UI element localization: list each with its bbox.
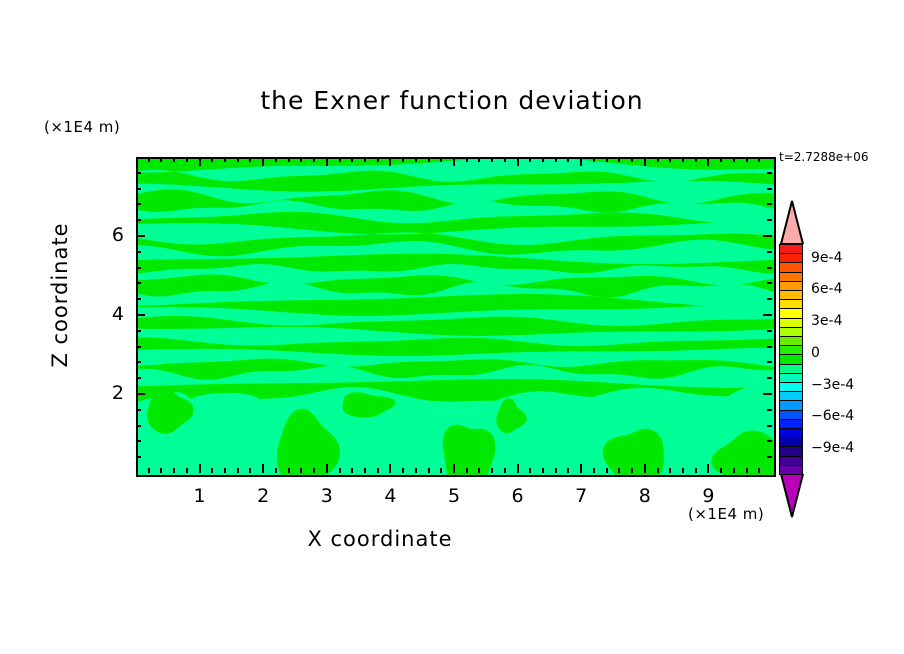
x-tick-minor (618, 157, 620, 162)
x-tick-minor (758, 468, 760, 473)
y-tick-minor (136, 409, 141, 411)
x-tick-label: 1 (180, 485, 220, 507)
x-tick-minor (224, 468, 226, 473)
x-tick-minor (746, 468, 748, 473)
x-tick-label: 4 (370, 485, 410, 507)
x-tick-label: 9 (688, 485, 728, 507)
x-tick-minor (567, 468, 569, 473)
x-tick-minor (682, 157, 684, 162)
y-tick-minor (767, 203, 772, 205)
x-tick-minor (351, 157, 353, 162)
x-tick-major (580, 464, 582, 473)
x-tick-major (389, 157, 391, 166)
x-tick-minor (491, 157, 493, 162)
x-tick-major (453, 464, 455, 473)
x-tick-major (199, 157, 201, 166)
x-tick-label: 3 (307, 485, 347, 507)
y-tick-minor (136, 251, 141, 253)
contour-cell-inner (443, 425, 496, 475)
x-tick-major (580, 157, 582, 166)
x-tick-minor (428, 468, 430, 473)
x-tick-minor (300, 157, 302, 162)
colorbar-tick-label: 0 (811, 345, 820, 361)
y-tick-minor (767, 361, 772, 363)
y-tick-minor (136, 346, 141, 348)
x-tick-minor (440, 468, 442, 473)
y-tick-minor (767, 251, 772, 253)
y-tick-minor (767, 172, 772, 174)
x-tick-minor (618, 468, 620, 473)
x-tick-minor (377, 468, 379, 473)
x-tick-minor (237, 468, 239, 473)
x-tick-major (707, 464, 709, 473)
y-axis-title: Z coordinate (48, 215, 72, 375)
x-tick-minor (249, 157, 251, 162)
y-tick-minor (767, 188, 772, 190)
x-tick-label: 7 (561, 485, 601, 507)
x-tick-minor (478, 468, 480, 473)
colorbar-over-arrow (779, 200, 805, 244)
x-tick-minor (173, 468, 175, 473)
y-tick-minor (136, 330, 141, 332)
x-tick-major (389, 464, 391, 473)
x-tick-minor (313, 157, 315, 162)
x-tick-minor (542, 157, 544, 162)
x-tick-minor (695, 157, 697, 162)
y-tick-minor (136, 456, 141, 458)
x-tick-minor (720, 157, 722, 162)
x-tick-minor (211, 468, 213, 473)
y-tick-minor (767, 456, 772, 458)
y-tick-minor (136, 298, 141, 300)
x-tick-minor (720, 468, 722, 473)
x-tick-minor (758, 157, 760, 162)
x-tick-label: 5 (434, 485, 474, 507)
x-tick-minor (224, 157, 226, 162)
x-tick-minor (313, 468, 315, 473)
x-tick-minor (529, 157, 531, 162)
y-tick-minor (767, 425, 772, 427)
y-tick-major (763, 314, 772, 316)
x-axis-title: X coordinate (0, 527, 760, 551)
x-tick-minor (364, 468, 366, 473)
x-tick-major (326, 157, 328, 166)
x-tick-minor (288, 157, 290, 162)
x-tick-minor (377, 157, 379, 162)
y-tick-minor (136, 425, 141, 427)
x-tick-minor (402, 157, 404, 162)
colorbar: 9e-46e-43e-40−3e-4−6e-4−9e-4 (779, 200, 805, 512)
y-tick-major (136, 314, 145, 316)
x-tick-minor (275, 157, 277, 162)
x-tick-minor (657, 468, 659, 473)
x-tick-minor (364, 157, 366, 162)
y-tick-major (763, 393, 772, 395)
x-tick-minor (351, 468, 353, 473)
x-tick-minor (478, 157, 480, 162)
x-tick-major (199, 464, 201, 473)
y-tick-minor (136, 188, 141, 190)
contour-plot-area (136, 157, 776, 477)
x-tick-major (262, 464, 264, 473)
y-tick-major (136, 235, 145, 237)
timestamp-label: t=2.7288e+06 (779, 150, 868, 164)
x-tick-minor (491, 468, 493, 473)
contour-field (138, 159, 774, 475)
x-tick-minor (555, 468, 557, 473)
x-tick-minor (186, 468, 188, 473)
x-tick-minor (657, 157, 659, 162)
x-tick-minor (466, 468, 468, 473)
colorbar-tick-label: 6e-4 (811, 281, 842, 297)
y-tick-minor (136, 377, 141, 379)
y-tick-minor (767, 267, 772, 269)
x-tick-minor (695, 468, 697, 473)
x-tick-minor (746, 157, 748, 162)
y-tick-minor (136, 440, 141, 442)
x-tick-minor (466, 157, 468, 162)
y-tick-minor (136, 219, 141, 221)
x-tick-minor (631, 157, 633, 162)
x-tick-minor (339, 157, 341, 162)
y-tick-minor (767, 219, 772, 221)
y-tick-minor (136, 172, 141, 174)
x-tick-minor (606, 468, 608, 473)
x-tick-minor (300, 468, 302, 473)
x-tick-minor (173, 157, 175, 162)
x-tick-label: 2 (243, 485, 283, 507)
x-tick-minor (555, 157, 557, 162)
x-tick-minor (160, 157, 162, 162)
x-tick-minor (249, 468, 251, 473)
x-tick-minor (415, 157, 417, 162)
x-tick-minor (402, 468, 404, 473)
x-tick-minor (631, 468, 633, 473)
y-axis-unit-label: (×1E4 m) (44, 118, 120, 136)
x-tick-minor (733, 468, 735, 473)
colorbar-tick-label: −9e-4 (811, 440, 854, 456)
y-tick-minor (136, 203, 141, 205)
x-tick-minor (593, 157, 595, 162)
x-tick-label: 6 (498, 485, 538, 507)
colorbar-tick-label: 9e-4 (811, 250, 842, 266)
x-tick-minor (415, 468, 417, 473)
x-tick-major (707, 157, 709, 166)
x-tick-minor (160, 468, 162, 473)
x-tick-major (644, 157, 646, 166)
y-tick-minor (767, 282, 772, 284)
y-tick-minor (136, 267, 141, 269)
y-tick-major (763, 235, 772, 237)
x-tick-minor (237, 157, 239, 162)
x-tick-minor (682, 468, 684, 473)
y-tick-label: 2 (84, 382, 124, 404)
y-tick-minor (767, 377, 772, 379)
x-tick-minor (148, 468, 150, 473)
y-tick-minor (767, 409, 772, 411)
x-tick-minor (186, 157, 188, 162)
x-tick-minor (428, 157, 430, 162)
x-tick-minor (211, 157, 213, 162)
page-title: the Exner function deviation (0, 86, 904, 115)
x-tick-major (517, 464, 519, 473)
x-tick-minor (669, 468, 671, 473)
y-tick-minor (767, 440, 772, 442)
y-tick-minor (767, 298, 772, 300)
x-tick-minor (440, 157, 442, 162)
x-tick-major (517, 157, 519, 166)
x-tick-minor (567, 157, 569, 162)
colorbar-tick-label: −3e-4 (811, 377, 854, 393)
colorbar-tick-label: −6e-4 (811, 408, 854, 424)
x-tick-major (262, 157, 264, 166)
x-tick-minor (504, 468, 506, 473)
x-tick-minor (148, 157, 150, 162)
y-tick-label: 4 (84, 303, 124, 325)
x-tick-minor (529, 468, 531, 473)
colorbar-tick-label: 3e-4 (811, 313, 842, 329)
y-tick-minor (136, 282, 141, 284)
y-tick-minor (767, 330, 772, 332)
x-tick-minor (733, 157, 735, 162)
x-tick-minor (339, 468, 341, 473)
y-tick-minor (136, 361, 141, 363)
x-tick-minor (669, 157, 671, 162)
x-tick-major (453, 157, 455, 166)
x-tick-minor (504, 157, 506, 162)
x-tick-label: 8 (625, 485, 665, 507)
y-tick-major (136, 393, 145, 395)
colorbar-under-arrow (779, 474, 805, 518)
x-tick-minor (606, 157, 608, 162)
x-tick-minor (288, 468, 290, 473)
y-tick-label: 6 (84, 224, 124, 246)
x-tick-major (644, 464, 646, 473)
x-tick-major (326, 464, 328, 473)
x-tick-minor (593, 468, 595, 473)
x-axis-unit-label: (×1E4 m) (688, 505, 764, 523)
x-tick-minor (275, 468, 277, 473)
x-tick-minor (542, 468, 544, 473)
y-tick-minor (767, 346, 772, 348)
exner-function-contour-plot: the Exner function deviation (×1E4 m) (×… (0, 0, 904, 654)
